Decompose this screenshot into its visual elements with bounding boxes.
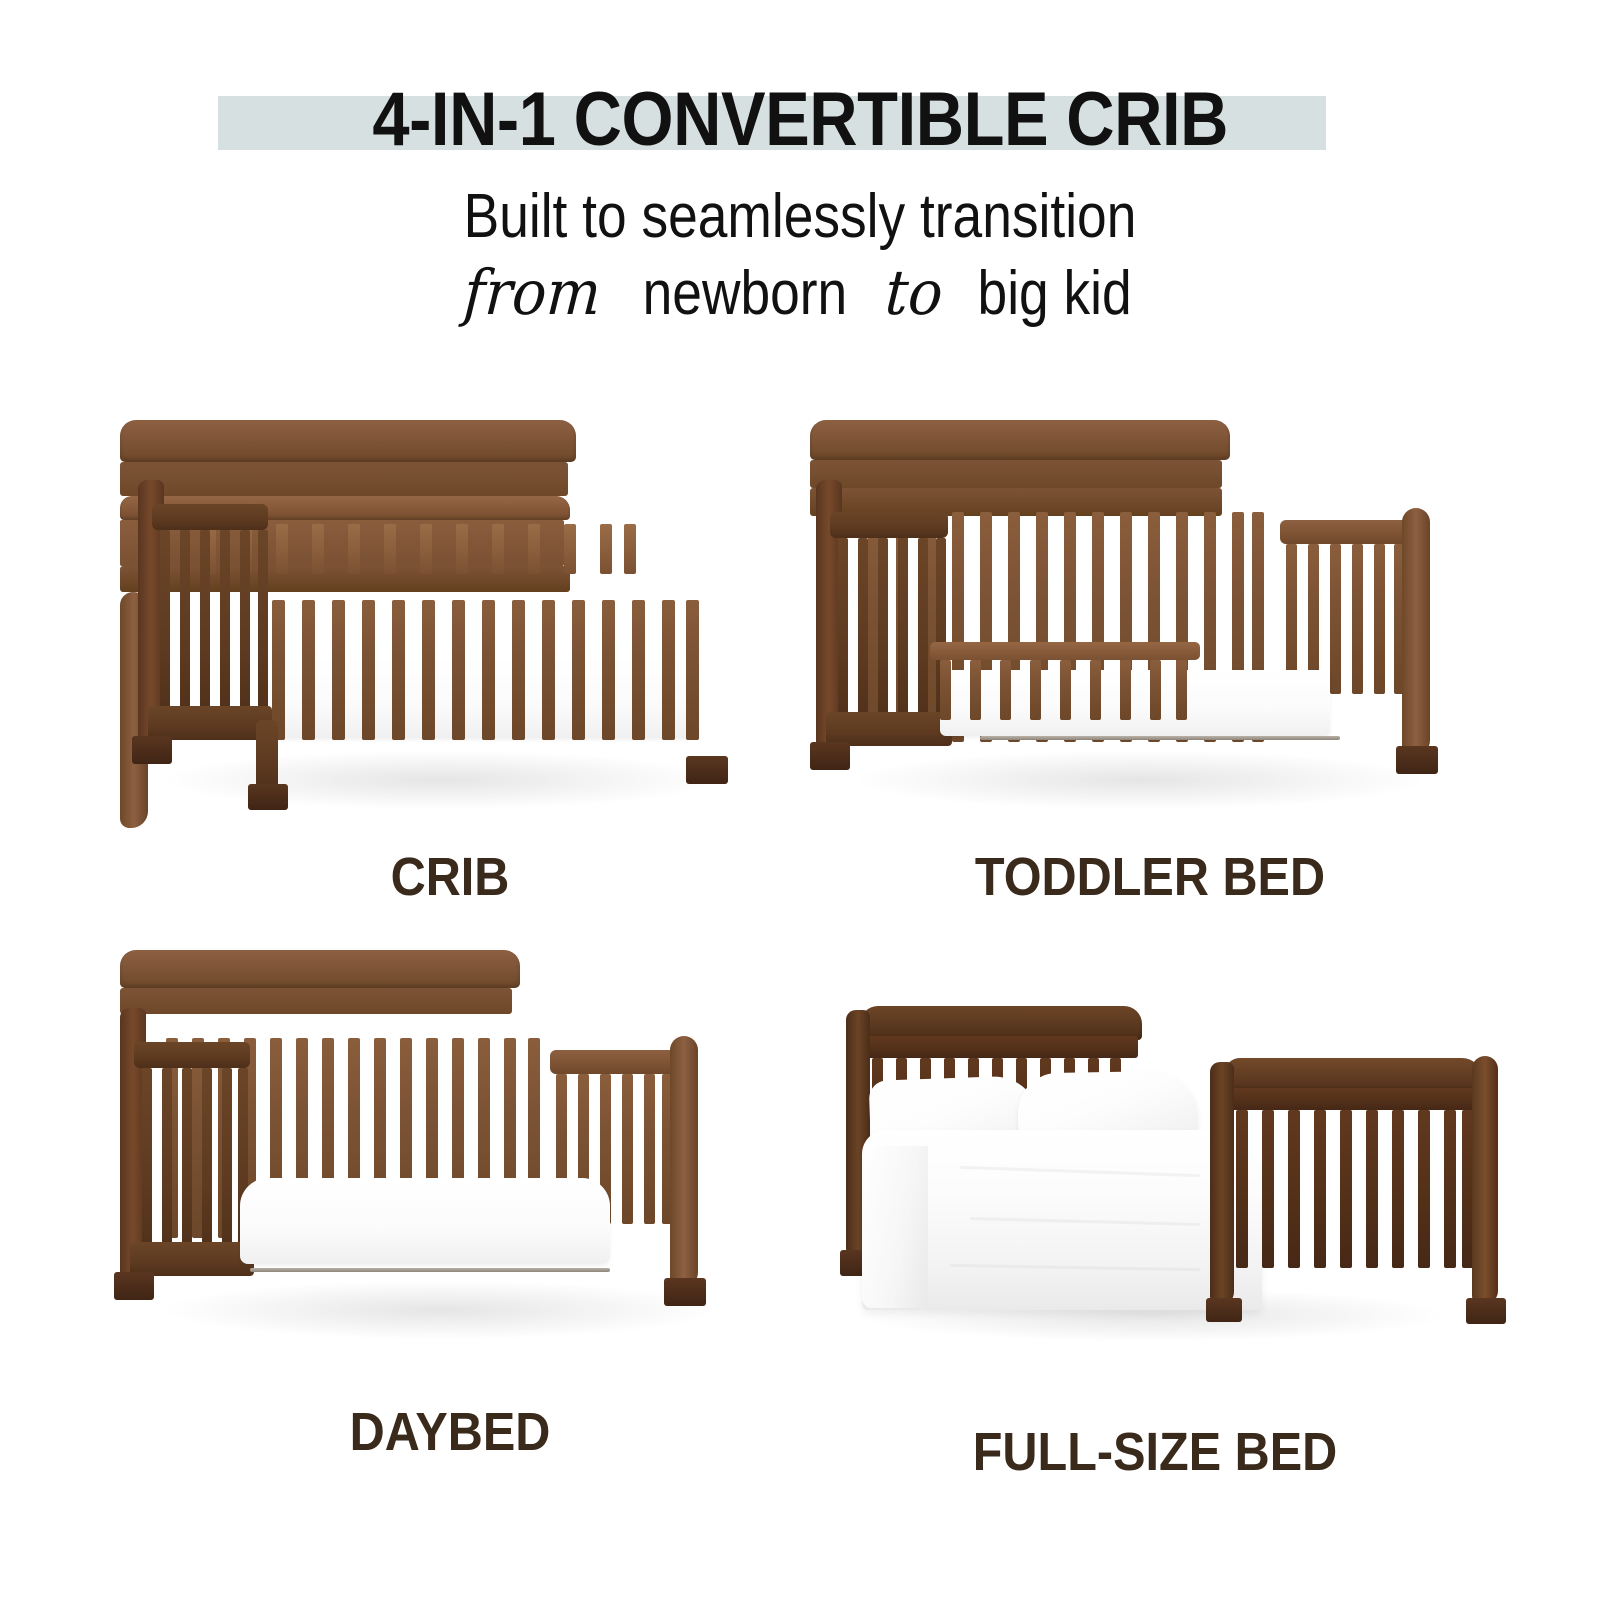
daybed-headboard-panel: [120, 988, 512, 1014]
bed-footboard-right-foot: [1466, 1298, 1506, 1324]
crib-left-foot: [132, 736, 172, 764]
page-title-wrap: 4-IN-1 CONVERTIBLE CRIB: [0, 72, 1600, 168]
toddler-support-bar: [980, 736, 1340, 740]
floor-shadow: [160, 750, 720, 810]
toddler-guard-rail: [930, 642, 1200, 742]
configuration-full-size-bed: FULL-SIZE BED: [810, 970, 1500, 1500]
subtitle-plain-bigkid: big kid: [977, 263, 1131, 325]
subtitle-line-1: Built to seamlessly transition: [112, 186, 1488, 248]
bed-duvet-side-drape: [862, 1146, 928, 1308]
daybed-left-foot: [114, 1272, 154, 1300]
configuration-daybed: DAYBED: [120, 950, 780, 1480]
daybed-left-bottom-rail: [130, 1242, 254, 1276]
crib-headboard-panel: [120, 462, 568, 496]
subtitle-script-from: from: [460, 262, 604, 324]
toddler-right-foot: [1396, 746, 1438, 774]
crib-left-end-panel: [138, 508, 268, 758]
bed-headboard-top-rail: [860, 1006, 1142, 1040]
subtitle-script-to: to: [882, 262, 947, 324]
crib-front-slats: [270, 600, 702, 740]
toddler-headboard-panel: [810, 460, 1222, 488]
toddler-headboard-top-rail: [810, 420, 1230, 460]
subtitle-line-2: from newborn to big kid: [0, 262, 1600, 325]
caption-crib: CRIB: [153, 850, 747, 904]
toddler-left-end-panel: [816, 512, 948, 762]
crib-headboard-top-rail: [120, 420, 576, 462]
crib-illustration: [120, 420, 780, 820]
daybed-right-top-rail: [550, 1050, 678, 1074]
caption-toddler-bed: TODDLER BED: [844, 850, 1456, 904]
bed-footboard-right-post: [1472, 1056, 1498, 1304]
crib-front-left-leg: [256, 720, 278, 792]
bed-footboard: [1210, 1058, 1500, 1308]
bed-footboard-panel: [1228, 1088, 1478, 1110]
bed-footboard-top-rail: [1224, 1058, 1482, 1092]
daybed-headboard-top-rail: [120, 950, 520, 988]
header: 4-IN-1 CONVERTIBLE CRIB Built to seamles…: [0, 0, 1600, 360]
crib-left-top-rail: [152, 504, 268, 530]
configuration-crib: CRIB: [120, 420, 780, 920]
page-title: 4-IN-1 CONVERTIBLE CRIB: [372, 82, 1228, 158]
toddler-right-post: [1402, 508, 1430, 756]
daybed-left-top-rail: [134, 1042, 250, 1068]
daybed-mattress: [240, 1178, 610, 1264]
daybed-illustration: [120, 950, 780, 1350]
caption-daybed: DAYBED: [153, 1405, 747, 1459]
bed-footboard-left-foot: [1206, 1298, 1242, 1322]
crib-right-foot: [686, 756, 728, 784]
crib-left-bottom-rail: [148, 706, 272, 740]
full-size-bed-illustration: [810, 970, 1500, 1350]
bed-headboard-panel: [864, 1036, 1138, 1058]
caption-full-size-bed: FULL-SIZE BED: [845, 1425, 1466, 1479]
subtitle-plain-newborn: newborn: [643, 263, 848, 325]
toddler-left-top-rail: [830, 512, 948, 538]
daybed-support-bar: [250, 1268, 610, 1272]
daybed-left-end-panel: [120, 1042, 250, 1292]
toddler-bed-illustration: [810, 420, 1490, 820]
crib-front-left-foot: [248, 784, 288, 810]
toddler-guard-rail-top: [930, 642, 1200, 660]
daybed-right-post: [670, 1036, 698, 1288]
daybed-right-foot: [664, 1278, 706, 1306]
toddler-left-foot: [810, 742, 850, 770]
configuration-toddler-bed: TODDLER BED: [810, 420, 1490, 920]
toddler-right-top-rail: [1280, 520, 1410, 544]
bed-footboard-slats: [1234, 1110, 1474, 1268]
bed-footboard-left-post: [1210, 1062, 1234, 1306]
